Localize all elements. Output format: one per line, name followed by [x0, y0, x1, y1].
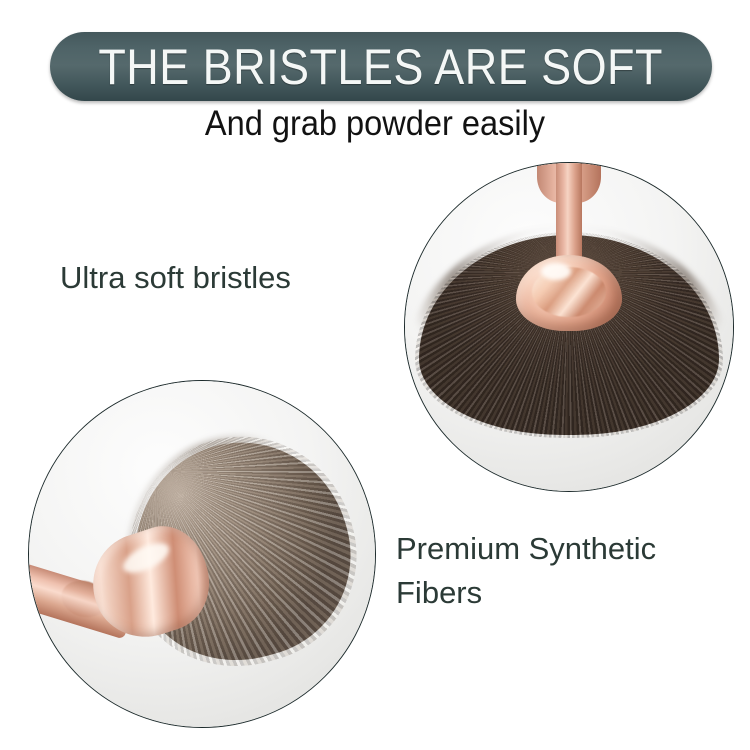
product-photo-fan-brush [404, 162, 734, 492]
dome-brush-illustration [29, 381, 375, 727]
header-banner: THE BRISTLES ARE SOFT [50, 32, 712, 101]
fan-brush-illustration [405, 163, 733, 491]
infographic-canvas: THE BRISTLES ARE SOFT And grab powder ea… [0, 0, 750, 750]
product-photo-dome-brush [28, 380, 376, 728]
callout-label-premium-synthetic-fibers: Premium Synthetic Fibers [396, 527, 656, 615]
banner-title: THE BRISTLES ARE SOFT [99, 42, 664, 92]
callout-label-ultra-soft-bristles: Ultra soft bristles [60, 256, 291, 300]
ferrule-specular-highlight [541, 263, 571, 280]
header-subtitle: And grab powder easily [26, 104, 724, 144]
